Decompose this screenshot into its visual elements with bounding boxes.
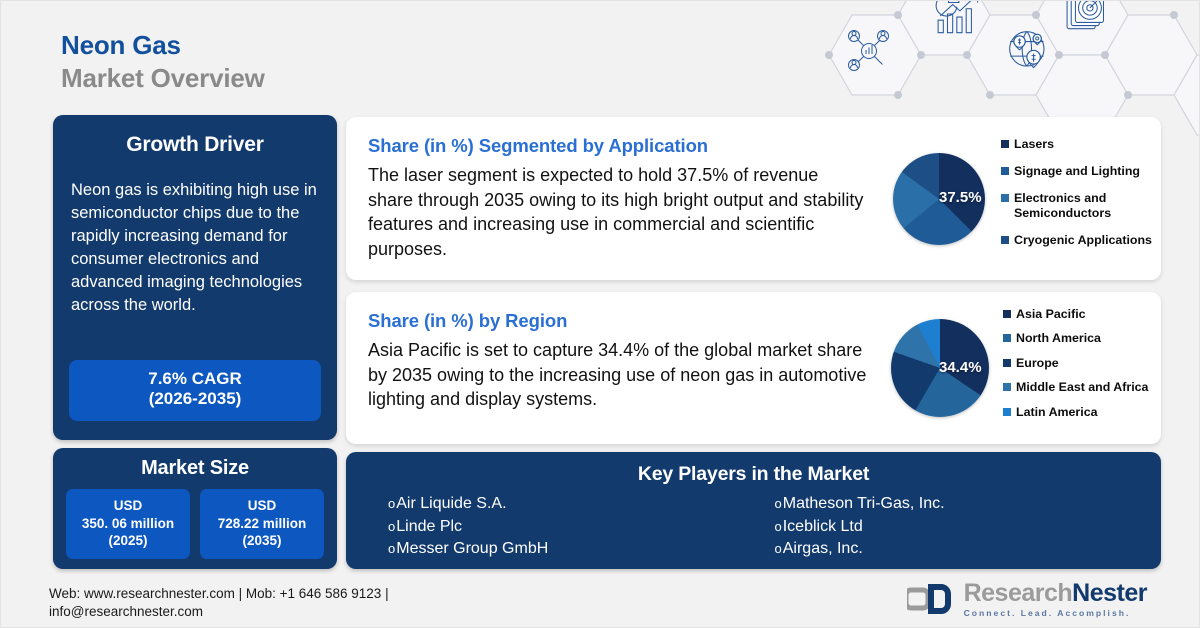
chain-link-icon — [907, 582, 955, 616]
legend-marker-icon — [1003, 408, 1011, 416]
legend-marker-icon — [1001, 167, 1009, 175]
application-pie-data-label: 37.5% — [939, 189, 982, 206]
region-pie-data-label: 34.4% — [939, 359, 982, 376]
currency-label: USD — [68, 497, 188, 515]
legend-marker-icon — [1003, 359, 1011, 367]
logo-tagline: Connect. Lead. Accomplish. — [964, 609, 1147, 618]
legend-label: Electronics and Semiconductors — [1014, 191, 1153, 220]
list-bullet-icon: o — [775, 497, 782, 510]
legend-marker-icon — [1003, 383, 1011, 391]
bar-chart-growth-icon — [936, 0, 978, 33]
legend-label: Middle East and Africa — [1016, 380, 1148, 394]
legend-item: Signage and Lighting — [1001, 164, 1153, 178]
title-line-1: Neon Gas — [61, 29, 265, 62]
clipboard-target-icon — [1067, 0, 1103, 29]
key-player-name: Air Liquide S.A. — [396, 493, 506, 516]
legend-marker-icon — [1001, 194, 1009, 202]
application-legend: LasersSignage and LightingElectronics an… — [1001, 137, 1153, 261]
value-label: 350. 06 million — [68, 515, 188, 533]
region-legend: Asia PacificNorth AmericaEuropeMiddle Ea… — [1003, 307, 1155, 429]
list-bullet-icon: o — [388, 542, 395, 555]
key-player-item: oLinde Plc — [388, 516, 775, 539]
legend-item: Latin America — [1003, 405, 1155, 419]
key-player-name: Messer Group GmbH — [396, 538, 548, 561]
legend-marker-icon — [1003, 334, 1011, 342]
legend-label: Lasers — [1014, 137, 1054, 151]
globe-finance-icon — [1010, 32, 1044, 68]
legend-marker-icon — [1003, 310, 1011, 318]
legend-label: Europe — [1016, 356, 1059, 370]
network-analytics-icon — [849, 31, 889, 71]
key-player-item: oIceblick Ltd — [775, 516, 1162, 539]
footer-contact-info: Web: www.researchnester.com | Mob: +1 64… — [49, 585, 519, 621]
legend-label: Asia Pacific — [1016, 307, 1086, 321]
application-text-block: Share (in %) Segmented by Application Th… — [368, 135, 868, 262]
growth-driver-body: Neon gas is exhibiting high use in semic… — [71, 179, 319, 317]
application-pie-chart: 37.5% — [893, 153, 985, 245]
legend-item: Middle East and Africa — [1003, 380, 1155, 394]
application-share-card: Share (in %) Segmented by Application Th… — [346, 117, 1161, 280]
legend-item: Electronics and Semiconductors — [1001, 191, 1153, 220]
legend-label: Signage and Lighting — [1014, 164, 1140, 178]
cagr-badge: 7.6% CAGR (2026-2035) — [69, 360, 321, 421]
year-label: (2025) — [68, 532, 188, 550]
market-size-values: USD 350. 06 million (2025) USD 728.22 mi… — [66, 489, 324, 559]
growth-driver-panel: Growth Driver Neon gas is exhibiting hig… — [53, 115, 337, 440]
market-size-title: Market Size — [53, 457, 337, 480]
key-player-item: oAirgas, Inc. — [775, 538, 1162, 561]
legend-label: North America — [1016, 331, 1101, 345]
list-bullet-icon: o — [775, 520, 782, 533]
logo-wordmark: ResearchNester — [964, 581, 1147, 606]
cagr-value: 7.6% CAGR — [73, 369, 317, 390]
research-nester-logo: ResearchNester Connect. Lead. Accomplish… — [907, 581, 1147, 618]
currency-label: USD — [202, 497, 322, 515]
region-text-block: Share (in %) by Region Asia Pacific is s… — [368, 310, 868, 412]
legend-item: North America — [1003, 331, 1155, 345]
cagr-period: (2026-2035) — [73, 389, 317, 410]
region-pie-chart: 34.4% — [891, 319, 989, 417]
list-bullet-icon: o — [388, 497, 395, 510]
legend-item: Europe — [1003, 356, 1155, 370]
key-player-item: oMesser Group GmbH — [388, 538, 775, 561]
list-bullet-icon: o — [388, 520, 395, 533]
logo-word-research: Research — [964, 579, 1073, 607]
list-bullet-icon: o — [775, 542, 782, 555]
key-player-item: oMatheson Tri-Gas, Inc. — [775, 493, 1162, 516]
legend-item: Lasers — [1001, 137, 1153, 151]
application-card-body: The laser segment is expected to hold 37… — [368, 163, 868, 262]
year-label: (2035) — [202, 532, 322, 550]
page-title: Neon Gas Market Overview — [61, 29, 265, 94]
market-size-box-2035: USD 728.22 million (2035) — [200, 489, 324, 559]
legend-marker-icon — [1001, 236, 1009, 244]
market-size-panel: Market Size USD 350. 06 million (2025) U… — [53, 448, 337, 569]
legend-label: Cryogenic Applications — [1014, 233, 1152, 247]
key-player-name: Airgas, Inc. — [783, 538, 863, 561]
key-player-item: oAir Liquide S.A. — [388, 493, 775, 516]
infographic-page: Neon Gas Market Overview Growth Driver N… — [0, 0, 1200, 628]
key-players-panel: Key Players in the Market oAir Liquide S… — [346, 452, 1161, 569]
legend-label: Latin America — [1016, 405, 1097, 419]
application-chart-area: 37.5% LasersSignage and LightingElectron… — [893, 117, 1153, 280]
key-players-title: Key Players in the Market — [346, 463, 1161, 486]
application-card-heading: Share (in %) Segmented by Application — [368, 135, 868, 157]
market-size-box-2025: USD 350. 06 million (2025) — [66, 489, 190, 559]
legend-item: Asia Pacific — [1003, 307, 1155, 321]
key-players-column-left: oAir Liquide S.A.oLinde PlcoMesser Group… — [388, 493, 775, 561]
region-card-heading: Share (in %) by Region — [368, 310, 868, 332]
key-player-name: Iceblick Ltd — [783, 516, 863, 539]
logo-word-nester: Nester — [1072, 579, 1147, 607]
title-line-2: Market Overview — [61, 62, 265, 95]
key-players-column-right: oMatheson Tri-Gas, Inc.oIceblick LtdoAir… — [775, 493, 1162, 561]
region-chart-area: 34.4% Asia PacificNorth AmericaEuropeMid… — [891, 292, 1155, 444]
key-players-columns: oAir Liquide S.A.oLinde PlcoMesser Group… — [388, 493, 1161, 561]
legend-item: Cryogenic Applications — [1001, 233, 1153, 247]
region-share-card: Share (in %) by Region Asia Pacific is s… — [346, 292, 1161, 444]
region-card-body: Asia Pacific is set to capture 34.4% of … — [368, 338, 868, 412]
growth-driver-title: Growth Driver — [53, 133, 337, 157]
key-player-name: Linde Plc — [396, 516, 462, 539]
value-label: 728.22 million — [202, 515, 322, 533]
legend-marker-icon — [1001, 140, 1009, 148]
key-player-name: Matheson Tri-Gas, Inc. — [783, 493, 945, 516]
